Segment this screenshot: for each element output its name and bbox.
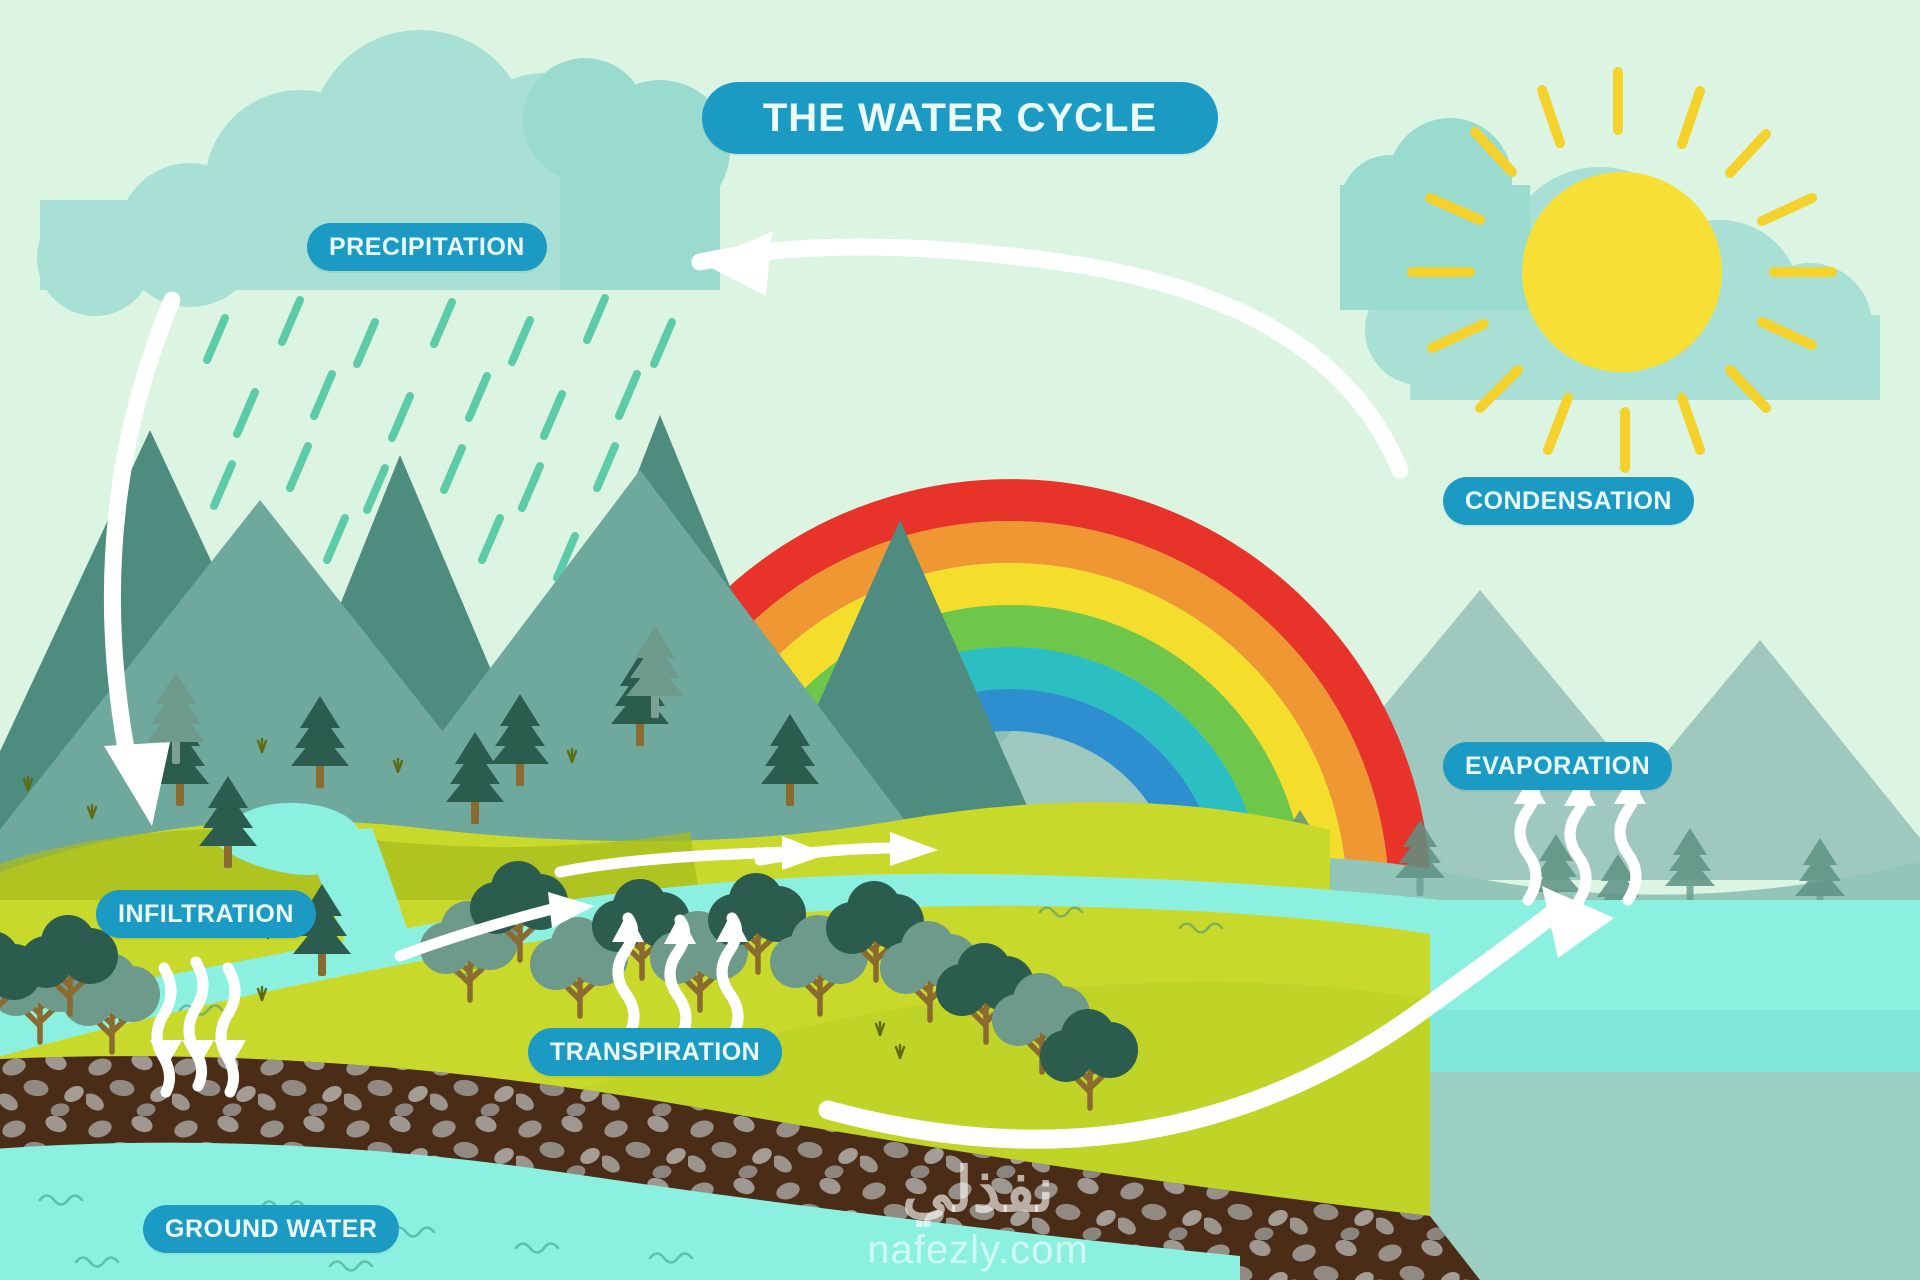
label-transpiration: TRANSPIRATION (528, 1028, 782, 1076)
label-ground-water: GROUND WATER (143, 1205, 399, 1253)
label-condensation: CONDENSATION (1443, 477, 1694, 525)
wavy-down-arrowheads (150, 1040, 246, 1068)
label-precipitation: PRECIPITATION (307, 223, 547, 271)
label-evaporation: EVAPORATION (1443, 742, 1672, 790)
water-cycle-diagram: THE WATER CYCLE PRECIPITATION CONDENSATI… (0, 0, 1920, 1280)
page-title: THE WATER CYCLE (702, 82, 1218, 154)
scene-artwork (0, 0, 1920, 1280)
label-infiltration: INFILTRATION (96, 890, 316, 938)
